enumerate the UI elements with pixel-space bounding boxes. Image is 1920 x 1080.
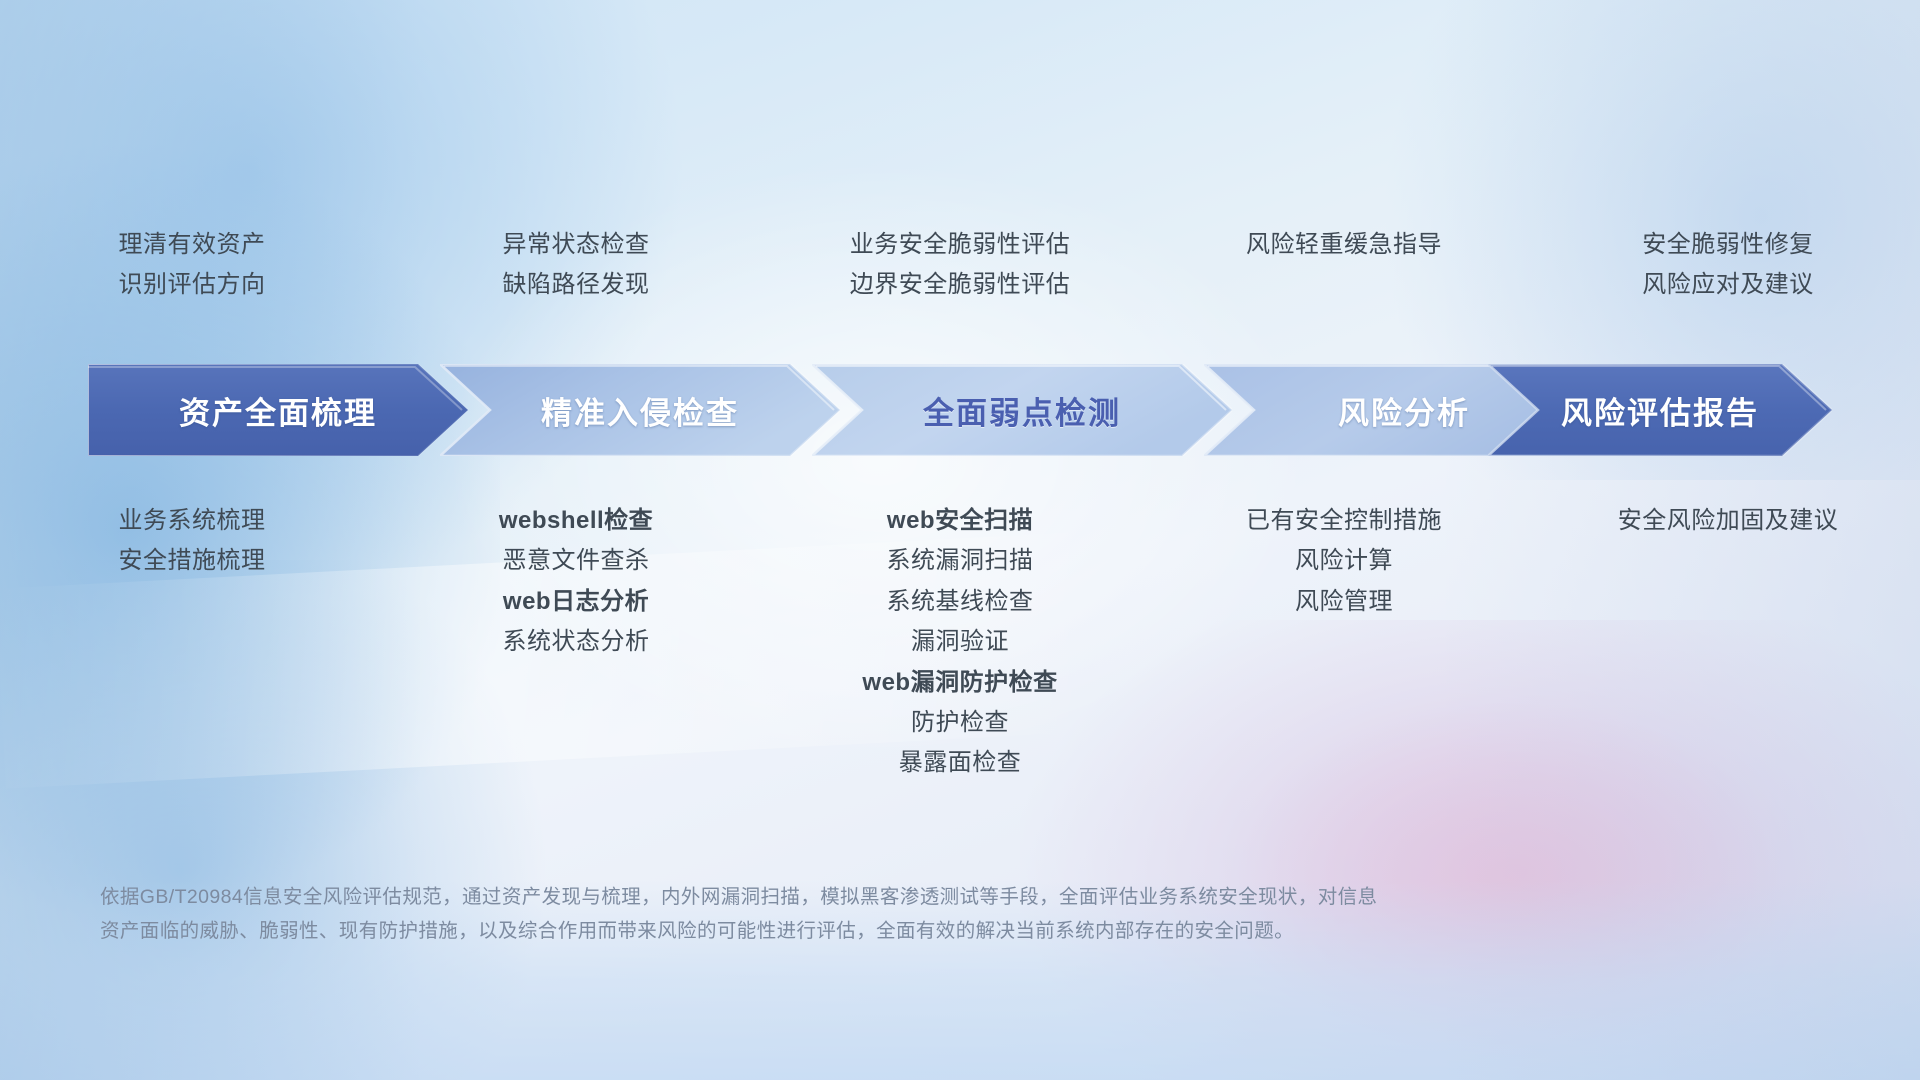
stage-label: 资产全面梳理: [179, 388, 377, 433]
bottom-item: 暴露面检查: [899, 750, 1022, 776]
stage-arrow-risk-report[interactable]: 风险评估报告: [1488, 364, 1832, 456]
bottom-item: 防护检查: [911, 710, 1009, 736]
bottom-item: 业务系统梳理: [119, 508, 266, 534]
bottom-item: 安全风险加固及建议: [1618, 508, 1839, 534]
bottom-items-asset-inventory: 业务系统梳理 安全措施梳理: [0, 508, 384, 777]
bottom-item: 系统基线检查: [887, 589, 1034, 615]
bottom-item: 已有安全控制措施: [1246, 508, 1442, 534]
top-item: 缺陷路径发现: [503, 272, 650, 298]
top-items-intrusion-check: 异常状态检查 缺陷路径发现: [384, 232, 768, 299]
top-item: 异常状态检查: [503, 232, 650, 258]
bottom-items-row: 业务系统梳理 安全措施梳理 webshell检查 恶意文件查杀 web日志分析 …: [0, 508, 1920, 777]
top-items-risk-report: 安全脆弱性修复 风险应对及建议: [1536, 232, 1920, 299]
top-items-risk-analysis: 风险轻重缓急指导: [1152, 232, 1536, 299]
top-item: 边界安全脆弱性评估: [850, 272, 1071, 298]
stage-label: 风险评估报告: [1561, 388, 1759, 433]
top-item: 理清有效资产: [119, 232, 266, 258]
bottom-item: 风险管理: [1295, 589, 1393, 615]
bottom-item: 安全措施梳理: [119, 548, 266, 574]
bottom-items-intrusion-check: webshell检查 恶意文件查杀 web日志分析 系统状态分析: [384, 508, 768, 777]
stage-label: 全面弱点检测: [923, 388, 1121, 433]
top-items-weakness-detection: 业务安全脆弱性评估 边界安全脆弱性评估: [768, 232, 1152, 299]
bottom-items-weakness-detection: web安全扫描 系统漏洞扫描 系统基线检查 漏洞验证 web漏洞防护检查 防护检…: [768, 508, 1152, 777]
footer-description: 依据GB/T20984信息安全风险评估规范，通过资产发现与梳理，内外网漏洞扫描，…: [100, 880, 1620, 948]
top-items-row: 理清有效资产 识别评估方向 异常状态检查 缺陷路径发现 业务安全脆弱性评估 边界…: [0, 232, 1920, 299]
top-item: 识别评估方向: [119, 272, 266, 298]
stage-arrow-weakness-detection[interactable]: 全面弱点检测: [812, 364, 1232, 456]
bottom-item: 漏洞验证: [911, 629, 1009, 655]
stage-arrow-intrusion-check[interactable]: 精准入侵检查: [440, 364, 840, 456]
bottom-item: web漏洞防护检查: [862, 670, 1057, 696]
top-item: 风险轻重缓急指导: [1246, 232, 1442, 258]
bottom-items-risk-report: 安全风险加固及建议: [1536, 508, 1920, 777]
bottom-items-risk-analysis: 已有安全控制措施 风险计算 风险管理: [1152, 508, 1536, 777]
top-items-asset-inventory: 理清有效资产 识别评估方向: [0, 232, 384, 299]
bottom-item: 系统漏洞扫描: [887, 548, 1034, 574]
bottom-item: 恶意文件查杀: [503, 548, 650, 574]
bottom-item: web日志分析: [503, 589, 649, 615]
top-item: 风险应对及建议: [1642, 272, 1814, 298]
top-item: 安全脆弱性修复: [1642, 232, 1814, 258]
process-diagram: 理清有效资产 识别评估方向 异常状态检查 缺陷路径发现 业务安全脆弱性评估 边界…: [0, 0, 1920, 1080]
bottom-item: web安全扫描: [887, 508, 1033, 534]
stage-label: 风险分析: [1338, 388, 1470, 433]
stage-label: 精准入侵检查: [541, 388, 739, 433]
bottom-item: 风险计算: [1295, 548, 1393, 574]
stage-arrow-band: 资产全面梳理 精准入: [88, 364, 1832, 456]
footer-line-2: 资产面临的威胁、脆弱性、现有防护措施，以及综合作用而带来风险的可能性进行评估，全…: [100, 914, 1620, 948]
bottom-item: webshell检查: [499, 508, 653, 534]
footer-line-1: 依据GB/T20984信息安全风险评估规范，通过资产发现与梳理，内外网漏洞扫描，…: [100, 880, 1620, 914]
bottom-item: 系统状态分析: [503, 629, 650, 655]
top-item: 业务安全脆弱性评估: [850, 232, 1071, 258]
stage-arrow-asset-inventory[interactable]: 资产全面梳理: [88, 364, 468, 456]
